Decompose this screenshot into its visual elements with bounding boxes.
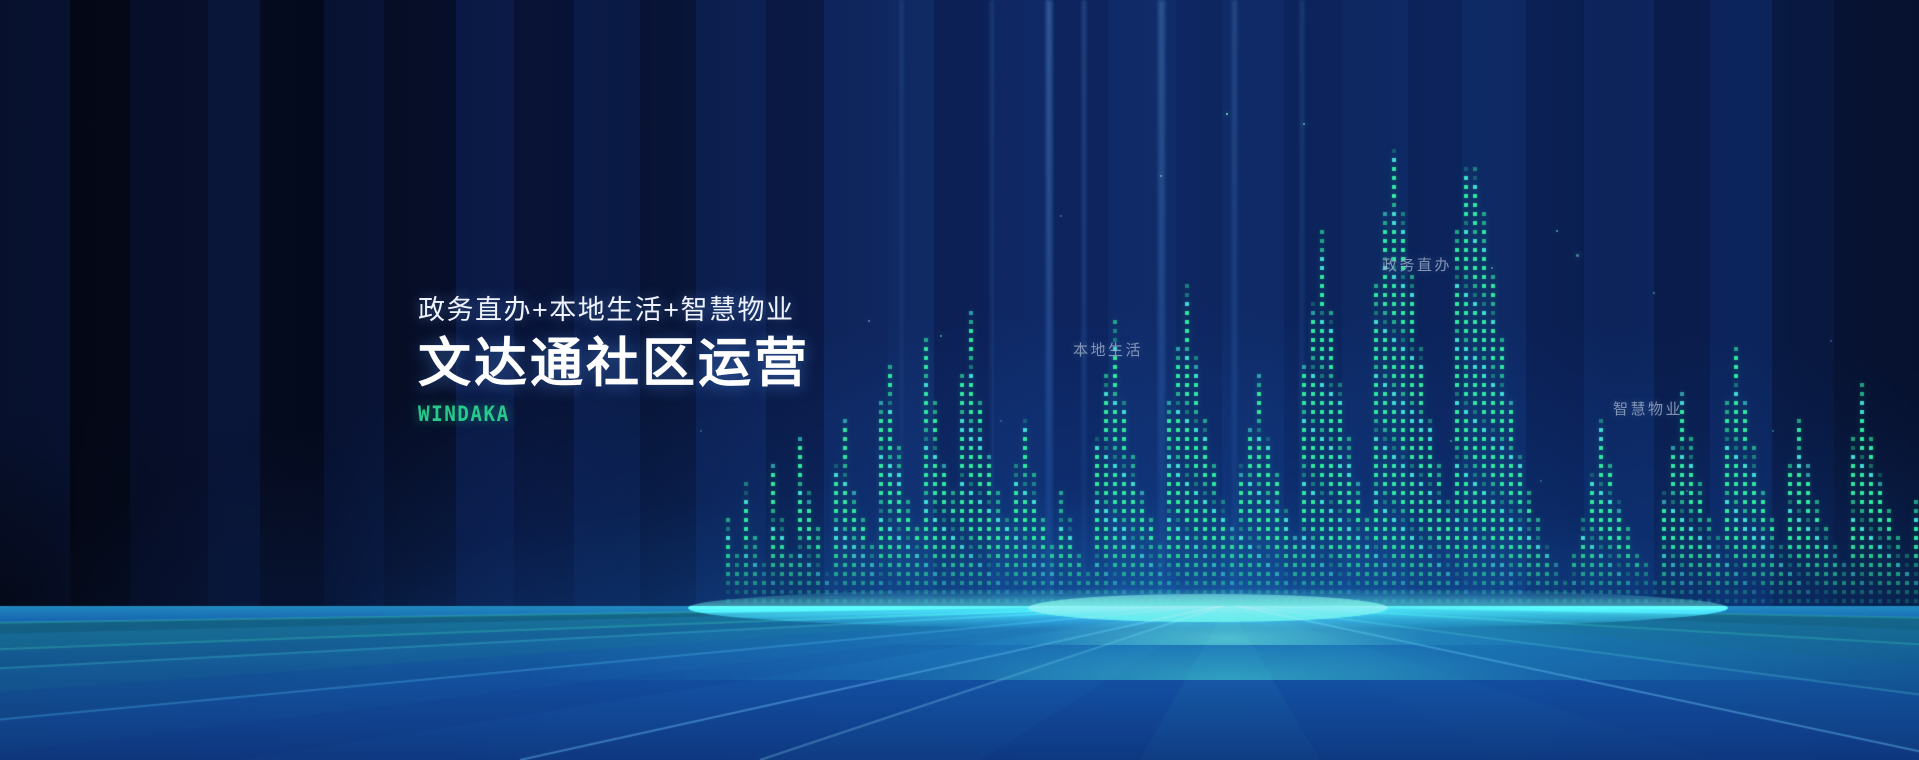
hero-title: 文达通社区运营 [418,335,810,392]
sparkle-dot [1160,175,1162,177]
floating-label-2: 本地生活 [1073,339,1143,360]
brand-wordmark: WINDAKA [418,402,779,426]
sparkle-dot [1576,254,1579,257]
hero-subtitle: 政务直办+本地生活+智慧物业 [418,296,810,326]
sparkle-dot [1491,267,1493,269]
sparkle-dot [1303,123,1305,125]
floating-label-1: 政务直办 [1382,254,1452,275]
hero-banner: 政务直办+本地生活+智慧物业 文达通社区运营 WINDAKA 政务直办本地生活智… [0,0,1919,760]
perspective-ground-plane [0,0,1919,760]
sparkle-dot [1772,430,1774,432]
floating-label-3: 智慧物业 [1613,398,1683,419]
sparkle-dot [1392,195,1394,197]
sparkle-dot [700,430,702,432]
sparkle-dot [868,320,870,322]
sparkle-dot [1556,230,1558,232]
sparkle-dot [1653,292,1655,294]
sparkle-dot [1060,215,1062,217]
sparkle-dot [940,335,942,337]
sparkle-dot [1226,113,1228,115]
sparkle-dot [1000,420,1002,422]
sparkle-dot [1830,340,1832,342]
sparkle-dot [1686,490,1688,492]
sparkle-dot [1450,440,1452,442]
hero-text-block: 政务直办+本地生活+智慧物业 文达通社区运营 WINDAKA [418,296,810,426]
sparkle-dot [1540,480,1542,482]
